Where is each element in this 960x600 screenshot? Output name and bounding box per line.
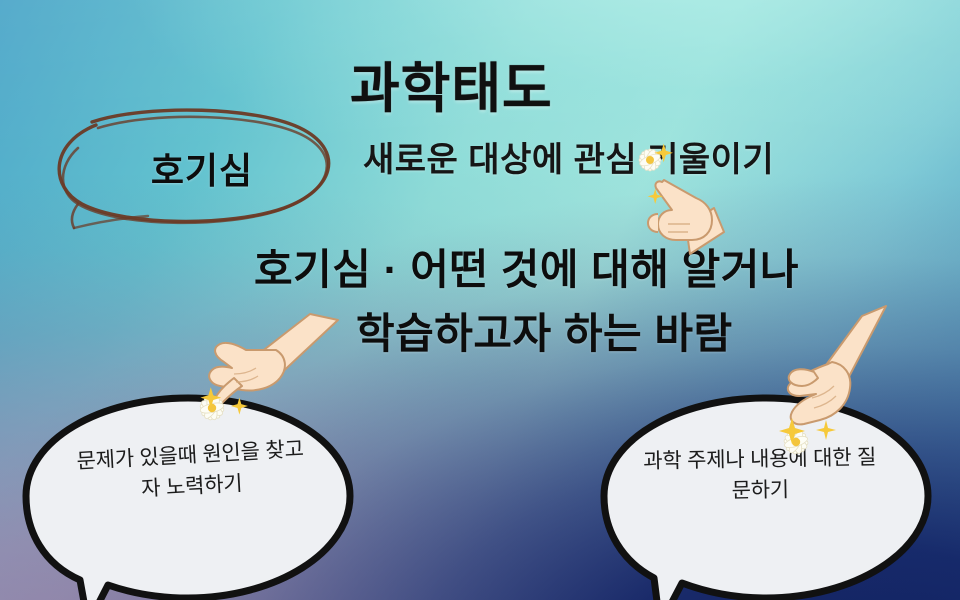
body-line-2: 학습하고자 하는 바람 bbox=[356, 300, 733, 361]
pointing-hand-right-sticker bbox=[778, 302, 928, 462]
slide-canvas: 과학태도 새로운 대상에 관심 기울이기 호기심 · 어떤 것에 대해 알거나 … bbox=[0, 0, 960, 600]
page-title: 과학태도 bbox=[350, 44, 553, 123]
pointing-hand-top-sticker bbox=[628, 136, 748, 266]
circled-keyword-label: 호기심 bbox=[52, 104, 342, 232]
pointing-hand-left-sticker bbox=[190, 312, 340, 442]
speech-bubble-left-text: 문제가 있을때 원인을 찾고자 노력하기 bbox=[74, 434, 307, 509]
hand-drawn-circle-annotation: 호기심 bbox=[52, 104, 342, 232]
